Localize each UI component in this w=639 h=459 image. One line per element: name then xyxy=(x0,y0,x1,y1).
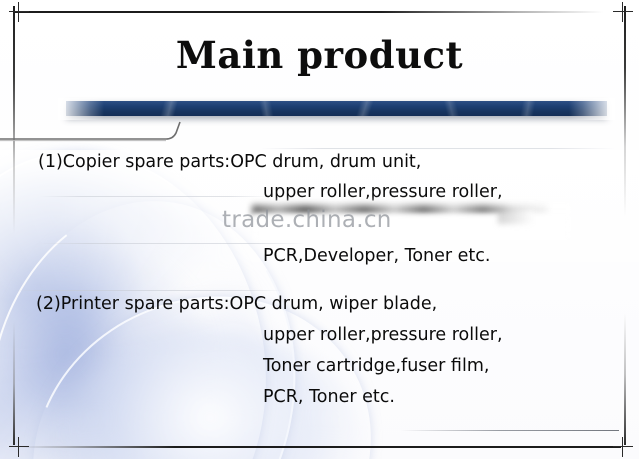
background-arc-two xyxy=(0,177,325,459)
printer-line-3: Toner cartridge,fuser film, xyxy=(263,358,489,376)
banner-hook-line xyxy=(0,118,192,142)
copier-line-3-obscured: , xyxy=(263,214,269,232)
printer-line-1: (2)Printer spare parts:OPC drum, wiper b… xyxy=(36,296,437,314)
decorative-rule-2 xyxy=(40,196,270,197)
registration-mark-icon xyxy=(613,437,633,457)
crop-frame-top xyxy=(14,11,603,13)
registration-mark-icon xyxy=(613,2,633,22)
decorative-rule-3 xyxy=(40,243,305,244)
smudge-overlay-wipe xyxy=(253,214,571,240)
slide-title: Main product xyxy=(0,33,639,77)
background-swirl-blue xyxy=(0,250,220,459)
printer-line-4: PCR, Toner etc. xyxy=(263,389,395,407)
background-haze xyxy=(0,150,639,300)
copier-line-4: PCR,Developer, Toner etc. xyxy=(263,248,490,266)
title-banner-bar xyxy=(66,101,607,116)
registration-mark-icon xyxy=(9,437,29,457)
title-banner-fade-right xyxy=(569,98,615,120)
title-banner-fade-left xyxy=(58,98,104,120)
smudge-overlay-dark xyxy=(252,205,548,215)
copier-line-1: (1)Copier spare parts:OPC drum, drum uni… xyxy=(38,154,421,172)
smudge-overlay-tail xyxy=(498,210,534,224)
title-banner xyxy=(58,98,615,120)
registration-mark-icon xyxy=(9,2,29,22)
decorative-rule-1 xyxy=(260,148,615,149)
crop-frame-bottom xyxy=(18,446,621,448)
copier-line-2: upper roller,pressure roller, xyxy=(263,184,503,202)
background-arc-three xyxy=(0,243,421,459)
decorative-rule-4 xyxy=(14,290,284,291)
product-slide: Main product (1)Copier spare parts:OPC d… xyxy=(0,0,639,459)
printer-line-2: upper roller,pressure roller, xyxy=(263,327,503,345)
site-watermark: trade.china.cn xyxy=(222,207,392,233)
background-swirl-large xyxy=(0,170,270,459)
decorative-rule-5 xyxy=(400,430,619,431)
